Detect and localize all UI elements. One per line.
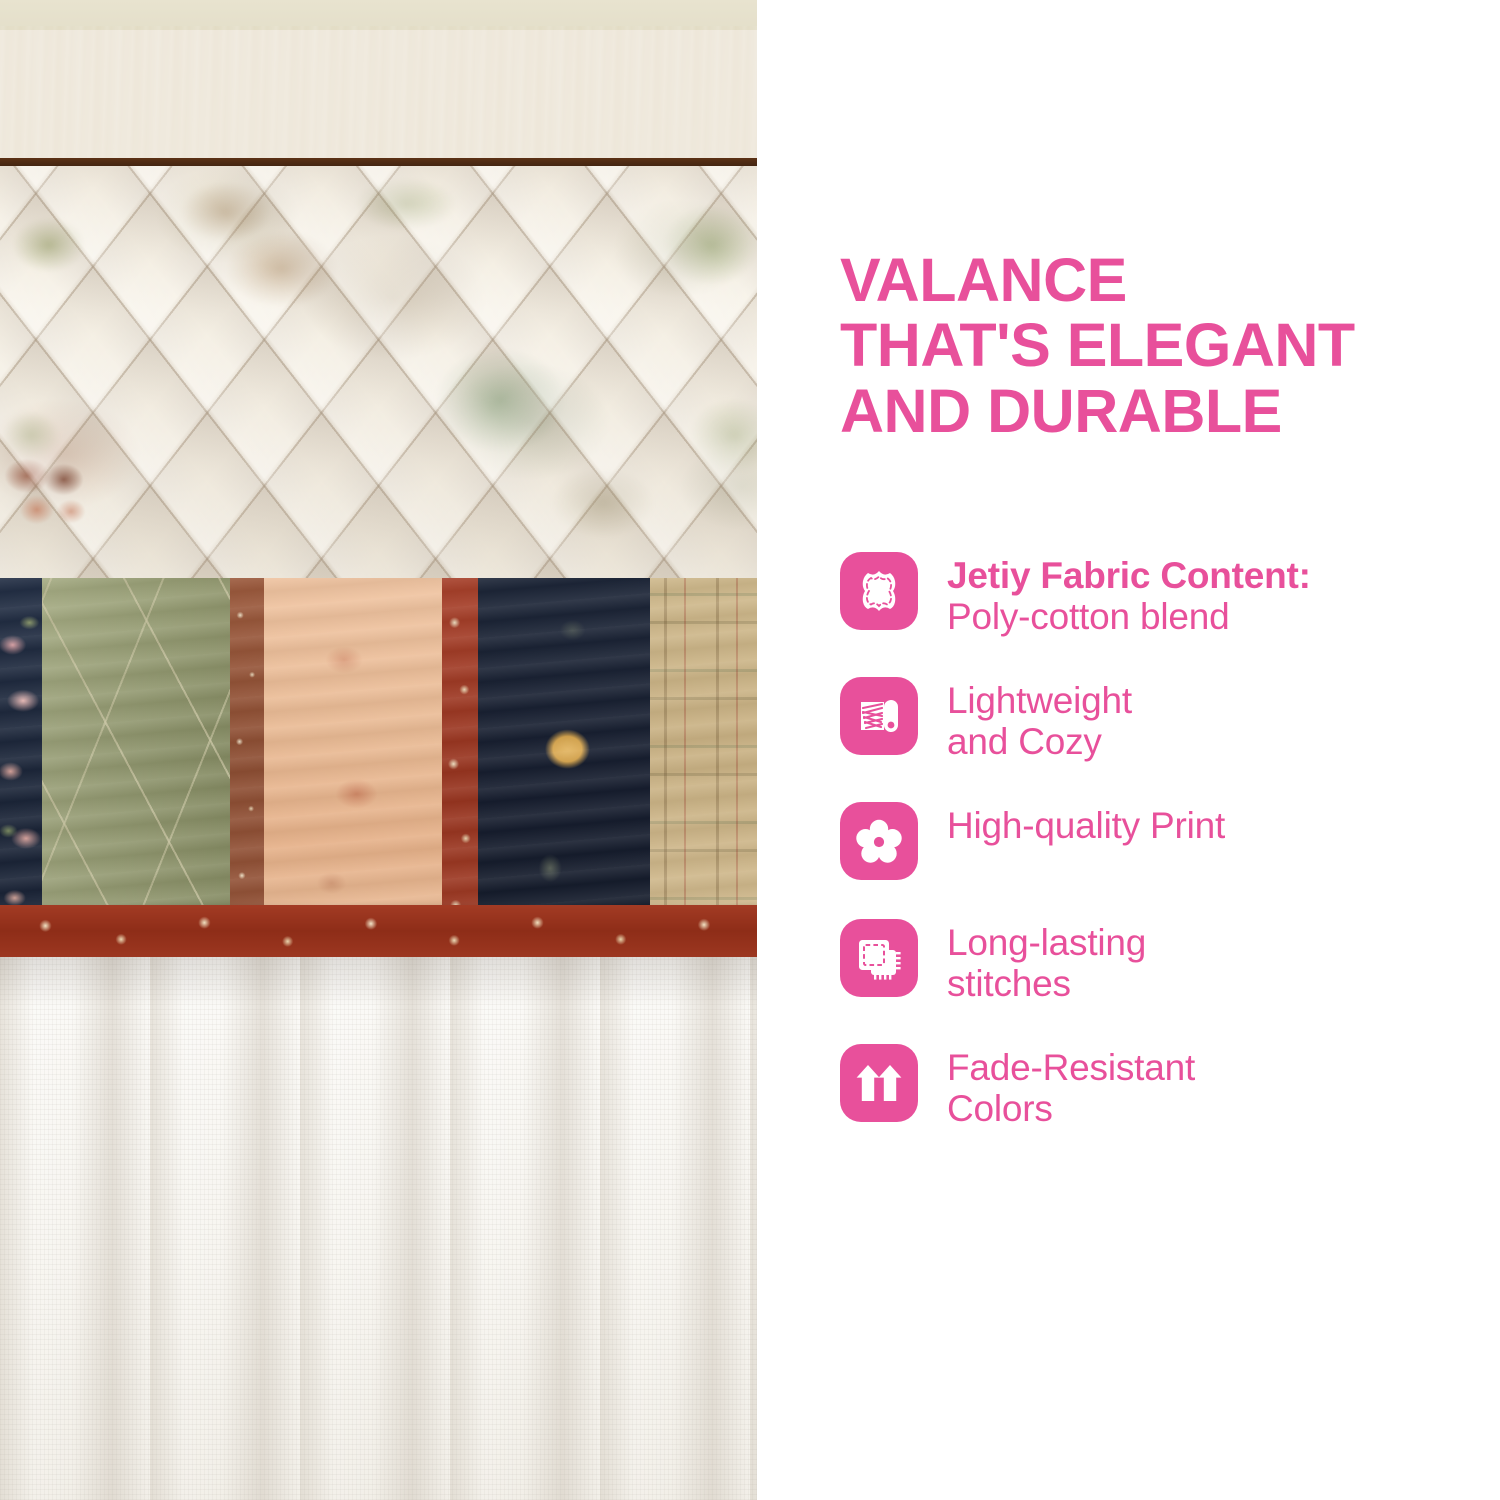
list-item: High-quality Print	[840, 802, 1480, 880]
page-title: VALANCE THAT'S ELEGANT AND DURABLE	[840, 248, 1460, 444]
list-item-label: Fade-Resistant Colors	[947, 1044, 1195, 1130]
botanical-sprig	[660, 202, 757, 288]
cream-quilted-floral-panel	[0, 166, 757, 578]
feature-lead-text: Jetiy Fabric Content:	[947, 555, 1311, 596]
quilt-stitching	[42, 578, 230, 950]
stacked-fabric-stitches-icon	[840, 919, 918, 997]
headline-line-3: AND DURABLE	[840, 377, 1282, 445]
butterfly-motif	[0, 442, 110, 536]
botanical-sprig	[10, 216, 88, 274]
fabric-roll-icon	[840, 677, 918, 755]
leather-hide-stitched-icon	[840, 552, 918, 630]
patch-panel-sage-green	[42, 578, 230, 950]
feature-line-1: Long-lasting	[947, 922, 1146, 963]
patchwork-strip	[0, 578, 757, 950]
patch-panel-floral-trim	[230, 578, 264, 950]
botanical-sprig	[430, 344, 570, 456]
info-panel: VALANCE THAT'S ELEGANT AND DURABLE Jetiy…	[757, 0, 1500, 1500]
sheer-white-curtain	[0, 957, 757, 1500]
feature-list: Jetiy Fabric Content: Poly-cotton blend	[840, 552, 1480, 1130]
list-item-label: Long-lasting stitches	[947, 919, 1146, 1005]
botanical-sprig	[548, 466, 658, 540]
feature-body-text: Poly-cotton blend	[947, 596, 1311, 637]
headline-line-2: THAT'S ELEGANT	[840, 311, 1355, 379]
headline-line-1: VALANCE	[840, 246, 1127, 314]
patch-panel-navy-gold-flower	[478, 578, 650, 950]
patch-panel-peach	[264, 578, 442, 950]
patch-panel-red-floral	[442, 578, 478, 950]
feature-line-1: High-quality Print	[947, 805, 1225, 846]
wooden-cornice	[0, 26, 757, 166]
feature-line-2: Colors	[947, 1088, 1195, 1129]
feature-line-1: Lightweight	[947, 680, 1132, 721]
red-floral-binding	[0, 905, 757, 957]
list-item-label: Jetiy Fabric Content: Poly-cotton blend	[947, 552, 1311, 638]
botanical-sprig	[222, 228, 342, 310]
list-item: Jetiy Fabric Content: Poly-cotton blend	[840, 552, 1480, 638]
list-item: Long-lasting stitches	[840, 919, 1480, 1005]
patch-panel-navy-floral	[0, 578, 42, 950]
double-up-arrows-icon	[840, 1044, 918, 1122]
list-item: Fade-Resistant Colors	[840, 1044, 1480, 1130]
flower-icon	[840, 802, 918, 880]
list-item-label: High-quality Print	[947, 802, 1225, 846]
list-item: Lightweight and Cozy	[840, 677, 1480, 763]
feature-line-1: Fade-Resistant	[947, 1047, 1195, 1088]
botanical-sprig	[686, 396, 757, 476]
patch-panel-tan-plaid	[650, 578, 757, 950]
feature-line-2: stitches	[947, 963, 1146, 1004]
botanical-sprig	[0, 410, 62, 462]
infographic-canvas: VALANCE THAT'S ELEGANT AND DURABLE Jetiy…	[0, 0, 1500, 1500]
botanical-sprig	[178, 180, 274, 244]
botanical-sprig	[352, 176, 460, 232]
feature-line-2: and Cozy	[947, 721, 1132, 762]
product-photo	[0, 0, 757, 1500]
list-item-label: Lightweight and Cozy	[947, 677, 1132, 763]
